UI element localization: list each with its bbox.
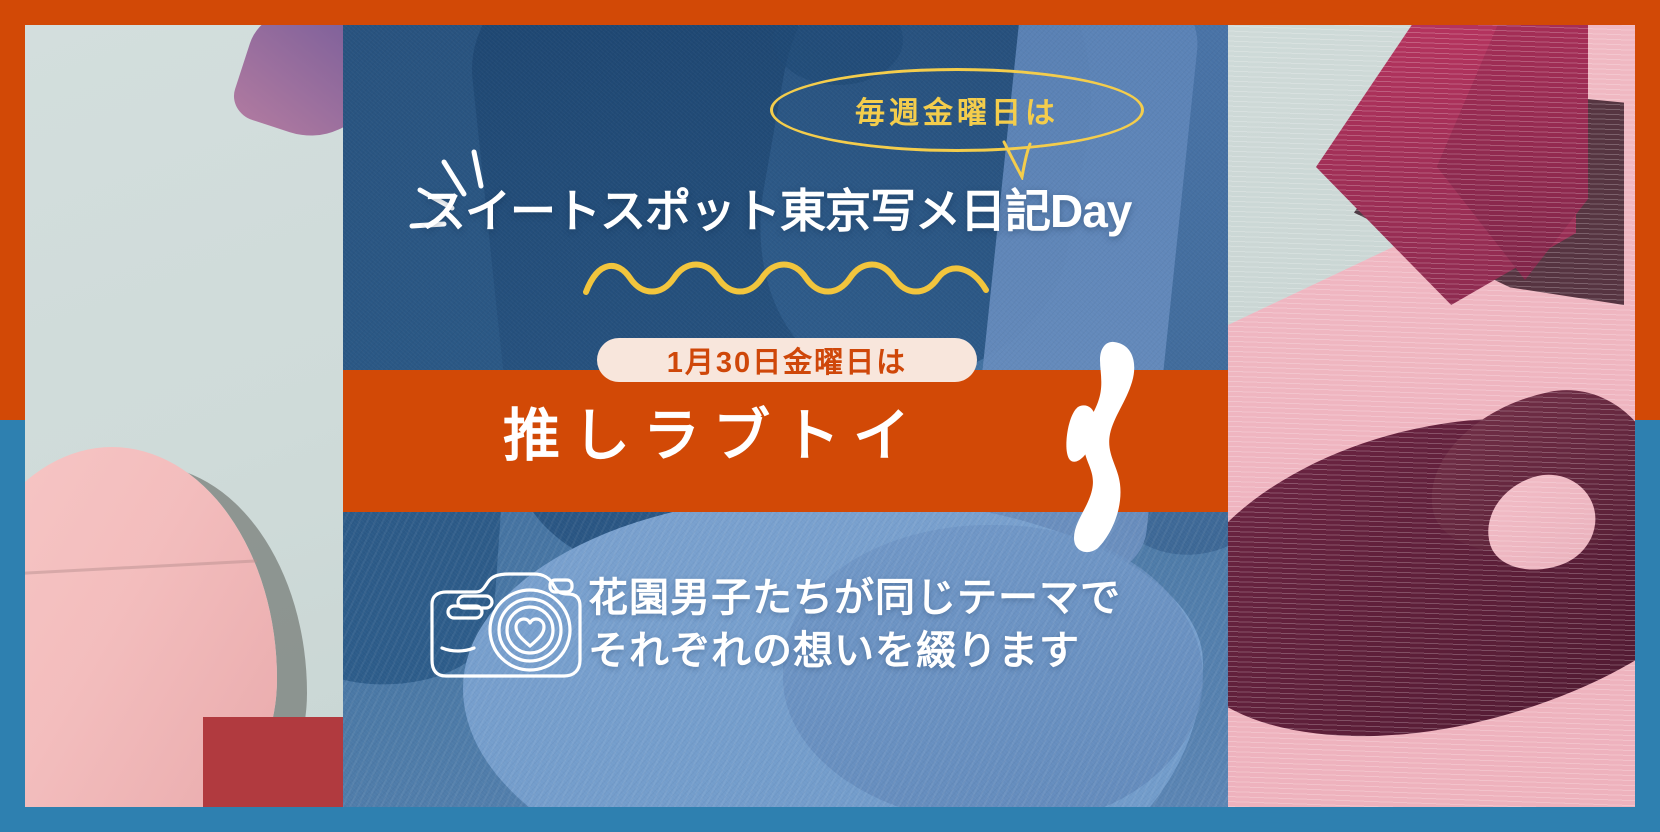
photo-panel-right <box>1228 25 1635 807</box>
date-pill-label: 1月30日金曜日は <box>667 339 907 381</box>
page-title: スイートスポット東京写メ日記Day <box>420 188 1180 234</box>
promo-banner: 毎週金曜日は スイートスポット東京写メ日記Day 1月30日金曜日は 推しラブト… <box>0 0 1660 832</box>
weekly-speech-bubble: 毎週金曜日は <box>770 68 1144 152</box>
photo-panel-left <box>25 25 343 807</box>
weekly-speech-bubble-label: 毎週金曜日は <box>855 88 1059 132</box>
left-purple-shape <box>228 25 343 152</box>
right-corduroy-texture <box>1228 25 1635 807</box>
speech-bubble-tail-icon <box>1000 140 1052 180</box>
rabbit-toy-silhouette-icon <box>1040 338 1150 553</box>
theme-title: 推しラブトイ <box>343 408 1083 465</box>
left-red-shape <box>203 717 343 807</box>
wavy-underline-icon <box>582 258 1002 300</box>
footer-description: 花園男子たちが同じテーマで それぞれの想いを綴ります <box>588 572 1188 678</box>
footer-line-2: それぞれの想いを綴ります <box>588 625 1188 678</box>
camera-heart-icon <box>418 552 588 682</box>
footer-line-1: 花園男子たちが同じテーマで <box>588 572 1188 625</box>
date-pill: 1月30日金曜日は <box>597 338 977 382</box>
